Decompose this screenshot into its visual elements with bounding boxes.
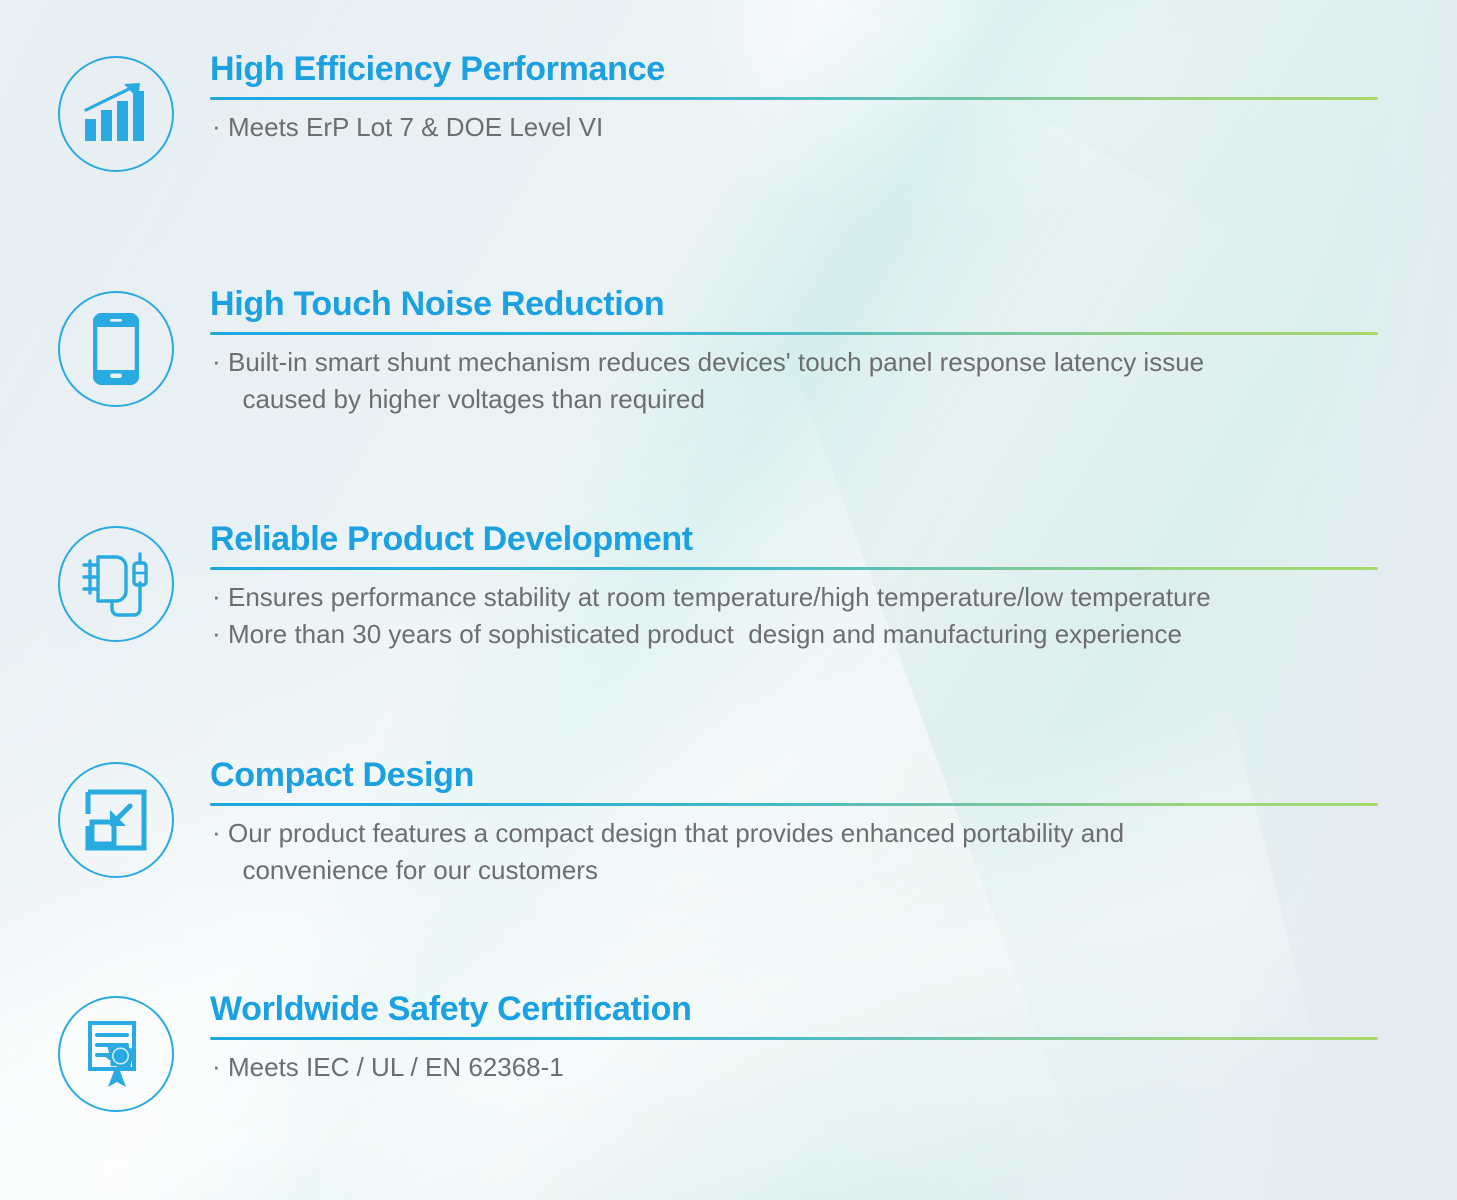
- feature-bullets: Built-in smart shunt mechanism reduces d…: [210, 344, 1380, 418]
- feature-bullet: Meets ErP Lot 7 & DOE Level VI: [210, 109, 1380, 146]
- feature-icon-worldwide-safety-certification: [56, 994, 176, 1114]
- certificate-award-icon: [84, 1019, 148, 1089]
- feature-text-high-touch-noise-reduction: High Touch Noise Reduction Built-in smar…: [210, 287, 1380, 418]
- feature-bullet: More than 30 years of sophisticated prod…: [210, 616, 1380, 653]
- feature-bullets: Our product features a compact design th…: [210, 815, 1380, 889]
- feature-title: Reliable Product Development: [210, 522, 1380, 558]
- feature-text-worldwide-safety-certification: Worldwide Safety Certification Meets IEC…: [210, 992, 1380, 1086]
- feature-title: High Touch Noise Reduction: [210, 287, 1380, 323]
- feature-icon-reliable-product-development: [56, 524, 176, 644]
- feature-bullets: Ensures performance stability at room te…: [210, 579, 1380, 653]
- feature-bullets: Meets ErP Lot 7 & DOE Level VI: [210, 109, 1380, 146]
- icon-circle: [58, 996, 174, 1112]
- feature-icon-high-efficiency-performance: [56, 54, 176, 174]
- feature-title: High Efficiency Performance: [210, 52, 1380, 88]
- compress-resize-icon: [84, 788, 148, 852]
- power-adapter-icon: [76, 547, 156, 621]
- feature-icon-high-touch-noise-reduction: [56, 289, 176, 409]
- icon-circle: [58, 56, 174, 172]
- feature-bullet: Ensures performance stability at room te…: [210, 579, 1380, 616]
- bar-chart-growth-icon: [83, 83, 149, 145]
- feature-highlights-page: High Efficiency Performance Meets ErP Lo…: [0, 0, 1457, 1200]
- feature-text-reliable-product-development: Reliable Product Development Ensures per…: [210, 522, 1380, 653]
- feature-bullet: Built-in smart shunt mechanism reduces d…: [210, 344, 1380, 418]
- feature-title: Worldwide Safety Certification: [210, 992, 1380, 1028]
- feature-divider: [210, 803, 1378, 806]
- icon-circle: [58, 291, 174, 407]
- smartphone-icon: [93, 313, 139, 385]
- feature-text-high-efficiency-performance: High Efficiency Performance Meets ErP Lo…: [210, 52, 1380, 146]
- feature-icon-compact-design: [56, 760, 176, 880]
- feature-bullets: Meets IEC / UL / EN 62368-1: [210, 1049, 1380, 1086]
- feature-divider: [210, 1037, 1378, 1040]
- icon-circle: [58, 526, 174, 642]
- feature-divider: [210, 567, 1378, 570]
- feature-title: Compact Design: [210, 758, 1380, 794]
- feature-bullet: Our product features a compact design th…: [210, 815, 1380, 889]
- feature-bullet: Meets IEC / UL / EN 62368-1: [210, 1049, 1380, 1086]
- feature-text-compact-design: Compact Design Our product features a co…: [210, 758, 1380, 889]
- icon-circle: [58, 762, 174, 878]
- feature-divider: [210, 97, 1378, 100]
- feature-divider: [210, 332, 1378, 335]
